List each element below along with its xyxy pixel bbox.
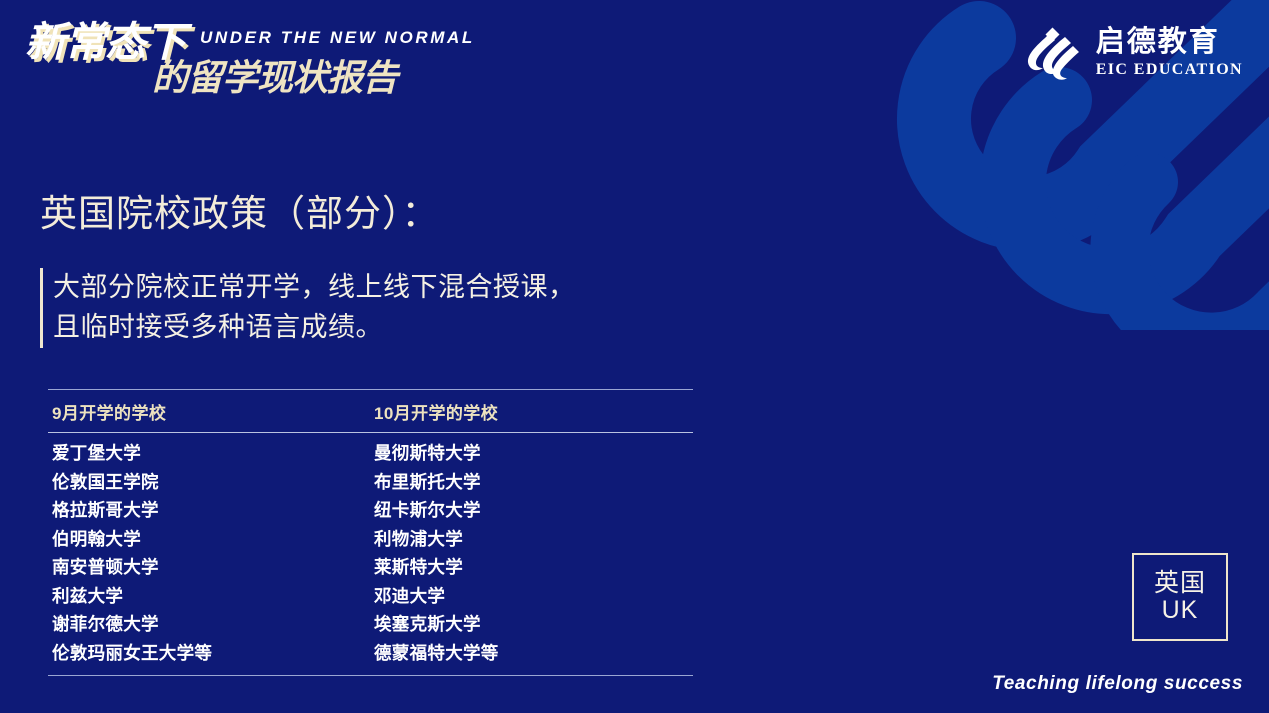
table-cell-september: 谢菲尔德大学 (52, 610, 374, 639)
table-header-row: 9月开学的学校 10月开学的学校 (48, 390, 693, 432)
table-cell-september: 伯明翰大学 (52, 525, 374, 554)
country-badge-label-en: UK (1162, 597, 1199, 625)
table-cell-october: 纽卡斯尔大学 (374, 496, 696, 525)
subtitle-block: 大部分院校正常开学，线上线下混合授课，且临时接受多种语言成绩。 (40, 268, 583, 348)
table-row: 伦敦国王学院 布里斯托大学 (52, 468, 693, 497)
table-cell-september: 利兹大学 (52, 582, 374, 611)
subtitle-text: 大部分院校正常开学，线上线下混合授课，且临时接受多种语言成绩。 (53, 268, 583, 348)
brand-text-block: 启德教育 EIC EDUCATION (1096, 27, 1243, 79)
table-cell-september: 格拉斯哥大学 (52, 496, 374, 525)
title-cn-bottom: 的留学现状报告 (152, 60, 397, 96)
table-row: 格拉斯哥大学 纽卡斯尔大学 (52, 496, 693, 525)
slide-root: 新常态下 UNDER THE NEW NORMAL 的留学现状报告 启德教育 E… (0, 0, 1269, 713)
table-body: 爱丁堡大学 曼彻斯特大学 伦敦国王学院 布里斯托大学 格拉斯哥大学 纽卡斯尔大学… (48, 433, 693, 675)
table-row: 爱丁堡大学 曼彻斯特大学 (52, 439, 693, 468)
table-header-cell-october: 10月开学的学校 (374, 399, 696, 424)
subtitle-accent-bar (40, 268, 43, 348)
brand-name-en: EIC EDUCATION (1096, 60, 1243, 79)
page-title: 英国院校政策（部分）： (40, 192, 440, 236)
table-cell-september: 爱丁堡大学 (52, 439, 374, 468)
table-row: 谢菲尔德大学 埃塞克斯大学 (52, 610, 693, 639)
table-cell-september: 伦敦国王学院 (52, 468, 374, 497)
table-cell-october: 德蒙福特大学等 (374, 639, 696, 668)
table-rule-bottom (48, 675, 693, 676)
table-cell-september: 伦敦玛丽女王大学等 (52, 639, 374, 668)
table-cell-october: 曼彻斯特大学 (374, 439, 696, 468)
country-badge-uk: 英国 UK (1132, 553, 1228, 641)
table-cell-october: 邓迪大学 (374, 582, 696, 611)
school-intake-table: 9月开学的学校 10月开学的学校 爱丁堡大学 曼彻斯特大学 伦敦国王学院 布里斯… (48, 389, 693, 676)
table-row: 伦敦玛丽女王大学等 德蒙福特大学等 (52, 639, 693, 668)
table-cell-october: 布里斯托大学 (374, 468, 696, 497)
table-cell-october: 埃塞克斯大学 (374, 610, 696, 639)
eic-logo-mark-icon (1022, 24, 1082, 82)
table-cell-september: 南安普顿大学 (52, 553, 374, 582)
table-row: 南安普顿大学 莱斯特大学 (52, 553, 693, 582)
title-en-subtitle: UNDER THE NEW NORMAL (200, 29, 475, 46)
table-cell-october: 莱斯特大学 (374, 553, 696, 582)
table-header-cell-september: 9月开学的学校 (52, 399, 374, 424)
table-cell-october: 利物浦大学 (374, 525, 696, 554)
brand-name-cn: 启德教育 (1096, 27, 1220, 58)
table-row: 伯明翰大学 利物浦大学 (52, 525, 693, 554)
brand-tagline: Teaching lifelong success (992, 673, 1243, 695)
table-row: 利兹大学 邓迪大学 (52, 582, 693, 611)
country-badge-label-cn: 英国 (1154, 570, 1206, 598)
report-title-lockup: 新常态下 UNDER THE NEW NORMAL 的留学现状报告 (22, 20, 482, 100)
brand-logo: 启德教育 EIC EDUCATION (1022, 24, 1243, 82)
